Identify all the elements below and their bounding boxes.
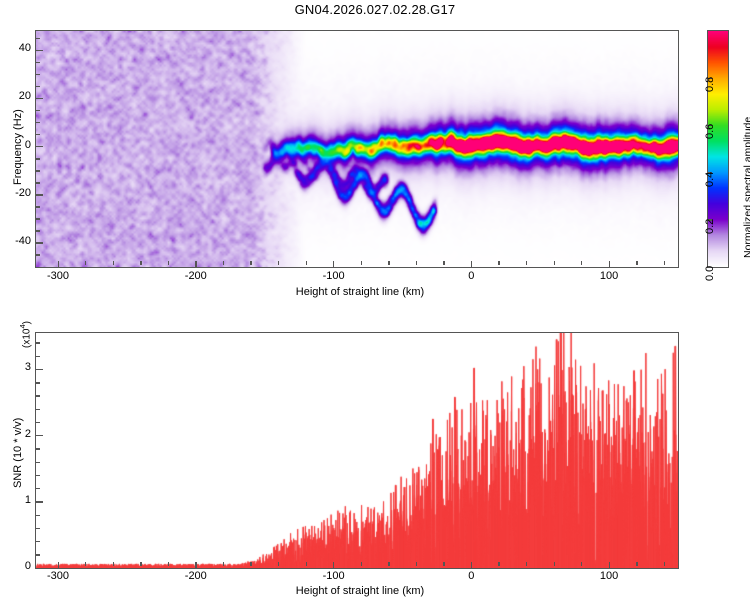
snr-x-tick (416, 562, 417, 566)
snr-y-scale-exponent: (x104) (18, 321, 32, 348)
snr-y-tick (36, 554, 40, 555)
snr-x-tick (85, 562, 86, 566)
spectrogram-y-tick (36, 62, 40, 63)
snr-x-tick (526, 562, 527, 566)
snr-x-tick (333, 562, 334, 569)
spectrogram-y-tick (36, 170, 40, 171)
snr-panel: -300-200-1000100 0123 Height of straight… (0, 300, 750, 600)
snr-x-tick (58, 562, 59, 569)
spectrogram-y-tick (36, 86, 40, 87)
snr-x-tick-label: -100 (304, 570, 364, 582)
spectrogram-y-tick (36, 158, 40, 159)
snr-x-tick (388, 562, 389, 566)
spectrogram-x-tick-label: -200 (166, 270, 226, 282)
spectrogram-x-tick (168, 261, 169, 265)
spectrogram-x-tick (526, 261, 527, 265)
snr-frame (35, 332, 679, 569)
spectrogram-x-tick (388, 261, 389, 265)
spectrogram-panel: -300-200-1000100 -40-2002040 Height of s… (0, 0, 750, 300)
spectrogram-y-tick (36, 146, 43, 147)
snr-x-tick (609, 562, 610, 569)
snr-x-tick (223, 562, 224, 566)
spectrogram-x-tick (609, 261, 610, 268)
snr-scale-exponent: 4 (18, 324, 27, 328)
snr-y-tick (36, 409, 40, 410)
snr-x-axis-label: Height of straight line (km) (180, 585, 540, 597)
snr-y-tick (36, 462, 40, 463)
spectrogram-x-tick-label: -100 (304, 270, 364, 282)
snr-x-tick-label: 0 (441, 570, 501, 582)
spectrogram-x-tick-label: 100 (579, 270, 639, 282)
spectrogram-y-tick-label: 20 (0, 90, 31, 102)
snr-x-tick-label: -200 (166, 570, 226, 582)
snr-x-tick (498, 562, 499, 566)
spectrogram-y-tick (36, 254, 40, 255)
snr-y-tick (36, 342, 40, 343)
snr-x-tick-label: -300 (28, 570, 88, 582)
spectrogram-x-tick (306, 261, 307, 265)
spectrogram-x-tick (333, 261, 334, 268)
spectrogram-x-tick (581, 261, 582, 265)
snr-x-tick (140, 562, 141, 566)
snr-y-tick (36, 475, 40, 476)
snr-y-tick (36, 369, 43, 370)
spectrogram-x-tick (278, 261, 279, 265)
snr-x-tick (361, 562, 362, 566)
snr-x-tick (443, 562, 444, 566)
spectrogram-x-tick-label: -300 (28, 270, 88, 282)
spectrogram-y-tick (36, 182, 40, 183)
snr-y-axis-label: SNR (10 * v/v) (12, 418, 24, 488)
snr-scale-suffix: ) (21, 321, 32, 324)
snr-y-tick (36, 356, 40, 357)
snr-y-tick (36, 488, 40, 489)
colorbar-tick-label: 0.6 (704, 124, 716, 139)
snr-x-tick (581, 562, 582, 566)
spectrogram-x-tick-label: 0 (441, 270, 501, 282)
spectrogram-y-tick (36, 218, 40, 219)
snr-y-tick (36, 501, 43, 502)
snr-y-tick (36, 568, 43, 569)
spectrogram-x-tick (361, 261, 362, 265)
snr-x-tick (250, 562, 251, 566)
spectrogram-x-tick (416, 261, 417, 265)
spectrogram-x-tick (113, 261, 114, 265)
snr-x-tick (471, 562, 472, 569)
snr-y-tick (36, 448, 40, 449)
spectrogram-x-tick (140, 261, 141, 265)
spectrogram-x-tick (471, 261, 472, 268)
spectrogram-y-tick (36, 134, 40, 135)
spectrogram-y-tick (36, 122, 40, 123)
spectrogram-x-tick (195, 261, 196, 268)
spectrogram-y-tick (36, 50, 43, 51)
colorbar-tick-label: 0.4 (704, 171, 716, 186)
snr-y-tick-label: 0 (0, 560, 31, 572)
snr-x-tick (636, 562, 637, 566)
figure-root: GN04.2026.027.02.28.G17 -300-200-1000100… (0, 0, 750, 600)
snr-y-tick (36, 395, 40, 396)
spectrogram-y-tick-label: -40 (0, 235, 31, 247)
spectrogram-y-tick (36, 230, 40, 231)
snr-x-tick-label: 100 (579, 570, 639, 582)
colorbar-tick-label: 0.2 (704, 219, 716, 234)
snr-y-tick (36, 528, 40, 529)
snr-x-tick (664, 562, 665, 566)
spectrogram-y-tick-label: -20 (0, 187, 31, 199)
spectrogram-y-tick (36, 110, 40, 111)
snr-y-tick (36, 435, 43, 436)
spectrogram-x-tick (554, 261, 555, 265)
colorbar-tick-label: 0.0 (704, 266, 716, 281)
snr-x-tick (278, 562, 279, 566)
snr-scale-prefix: (x10 (21, 329, 32, 348)
spectrogram-y-tick (36, 242, 43, 243)
snr-x-tick (168, 562, 169, 566)
spectrogram-x-tick (636, 261, 637, 265)
snr-x-tick (195, 562, 196, 569)
colorbar-label: Normalized spectral amplitude (742, 117, 750, 258)
spectrogram-x-tick (443, 261, 444, 265)
snr-y-tick-label: 1 (0, 494, 31, 506)
spectrogram-y-tick (36, 206, 40, 207)
snr-x-tick (554, 562, 555, 566)
spectrogram-x-tick (250, 261, 251, 265)
spectrogram-y-axis-label: Frequency (Hz) (12, 109, 24, 185)
snr-y-tick (36, 515, 40, 516)
snr-y-tick-label: 3 (0, 361, 31, 373)
snr-y-tick (36, 422, 40, 423)
snr-y-tick (36, 382, 40, 383)
snr-x-tick (306, 562, 307, 566)
spectrogram-x-tick (58, 261, 59, 268)
spectrogram-frame (35, 30, 679, 268)
spectrogram-x-tick (223, 261, 224, 265)
spectrogram-y-tick (36, 194, 43, 195)
spectrogram-x-tick (85, 261, 86, 265)
spectrogram-x-axis-label: Height of straight line (km) (180, 286, 540, 298)
colorbar-tick-label: 0.8 (704, 77, 716, 92)
spectrogram-x-tick (498, 261, 499, 265)
spectrogram-y-tick (36, 98, 43, 99)
spectrogram-y-tick (36, 74, 40, 75)
snr-x-tick (113, 562, 114, 566)
spectrogram-x-tick (664, 261, 665, 265)
snr-y-tick (36, 541, 40, 542)
spectrogram-y-tick (36, 38, 40, 39)
spectrogram-y-tick-label: 40 (0, 42, 31, 54)
